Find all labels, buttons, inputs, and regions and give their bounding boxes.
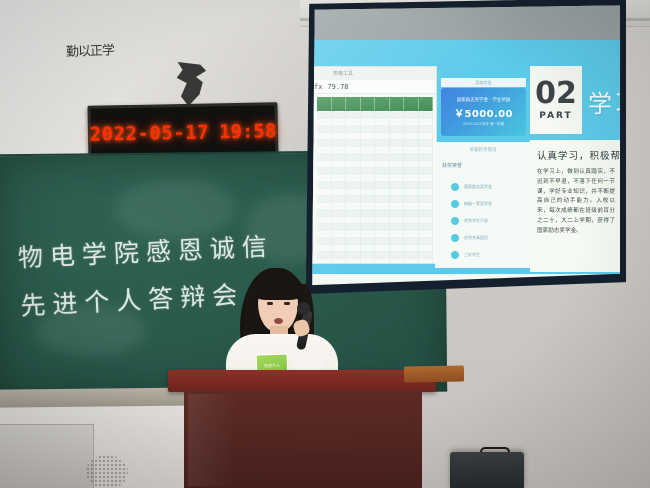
list-item-label: 优秀共青团员 xyxy=(464,235,488,241)
awards-panel-subtitle: 获奖荣誉 xyxy=(442,162,462,169)
mouth xyxy=(274,318,283,324)
table-row xyxy=(317,189,433,196)
led-date: 2022-05-17 xyxy=(90,122,210,146)
list-item: 国家励志奖学金 xyxy=(451,178,527,195)
slide-text-card: 认真学习，积极帮助同学 在学习上，做到认真踏实，不迟到不早退，不落下任何一节课，… xyxy=(530,140,620,272)
scholarship-card-header: 奖助学金 xyxy=(441,78,526,87)
table-row xyxy=(317,168,433,175)
list-item: 优秀共青团员 xyxy=(451,229,527,246)
speaker-grille-icon xyxy=(86,455,128,488)
list-item-label: 校级一等奖学金 xyxy=(464,201,492,207)
formula-fx-icon: fx xyxy=(314,83,322,91)
spreadsheet-screenshot: 表格工具 fx 79.78 xyxy=(310,66,437,264)
table-row xyxy=(317,154,433,161)
table-row xyxy=(317,217,433,224)
part-label: PART xyxy=(539,111,572,121)
bullet-dot-icon xyxy=(451,200,459,208)
slide-text-heading: 认真学习，积极帮助同学 xyxy=(537,148,615,162)
wall-calligraphy: 勤以正学 xyxy=(66,39,127,67)
projector-slide: 表格工具 fx 79.78 xyxy=(302,4,620,288)
bullet-dot-icon xyxy=(451,234,459,242)
led-time: 19:58 xyxy=(219,120,277,143)
list-item: 校级一等奖学金 xyxy=(451,195,527,212)
table-row xyxy=(317,112,433,119)
awards-panel: 荣誉获奖情况 获奖荣誉 国家励志奖学金 校级一等奖学金 优秀学生干部 优秀共青团 xyxy=(435,142,531,268)
table-row xyxy=(317,196,433,203)
table-row xyxy=(317,238,433,245)
table-row xyxy=(317,231,433,238)
table-row xyxy=(317,161,433,168)
scholarship-card: 国家励志奖学金 · 学业奖励 ￥5000.00 2020-2021学年 第一学期 xyxy=(441,88,526,136)
table-row xyxy=(317,133,433,140)
table-row xyxy=(317,175,433,182)
eye-left xyxy=(267,302,273,305)
scholarship-footnote: 2020-2021学年 第一学期 xyxy=(463,122,504,127)
podium xyxy=(178,370,428,488)
formula-bar: fx 79.78 xyxy=(311,80,437,94)
blackboard-line-2: 先进个人答辩会 xyxy=(19,275,245,323)
table-row xyxy=(317,126,433,133)
table-row xyxy=(317,140,433,147)
table-row xyxy=(317,259,433,264)
table-row xyxy=(317,224,433,231)
bullet-dot-icon xyxy=(451,183,459,191)
podium-side-board xyxy=(404,365,464,382)
awards-panel-title: 荣誉获奖情况 xyxy=(435,147,531,153)
classroom-photo: 勤以正学 2022-05-17 19:58 物电学院感恩诚信 先进个人答辩会 表… xyxy=(0,0,650,488)
table-row xyxy=(317,119,433,126)
podium-highlight xyxy=(188,394,238,486)
table-row xyxy=(317,245,433,252)
table-row xyxy=(317,203,433,210)
list-item: 三好学生 xyxy=(451,246,527,263)
table-row xyxy=(317,252,433,259)
table-row xyxy=(317,182,433,189)
wall-cabinet xyxy=(0,424,94,488)
part-number: 02 xyxy=(535,79,577,109)
table-row xyxy=(317,210,433,217)
part-number-box: 02 PART xyxy=(530,66,582,134)
list-item-label: 三好学生 xyxy=(464,252,480,258)
floor-speaker xyxy=(450,452,524,488)
bullet-dot-icon xyxy=(451,251,459,259)
spreadsheet-rows xyxy=(317,112,433,263)
slide-text-body: 在学习上，做到认真踏实，不迟到不早退，不落下任何一节课，学好专业知识，并不断提高… xyxy=(537,168,615,236)
slide-top-band xyxy=(302,4,620,40)
table-row xyxy=(317,147,433,154)
awards-list: 国家励志奖学金 校级一等奖学金 优秀学生干部 优秀共青团员 三好学生 xyxy=(451,178,527,263)
formula-value: 79.78 xyxy=(327,83,348,91)
scholarship-label: 国家励志奖学金 · 学业奖励 xyxy=(457,97,511,103)
podium-top-surface xyxy=(168,370,436,392)
ribbon-hint: 表格工具 xyxy=(333,70,353,77)
list-item-label: 国家励志奖学金 xyxy=(464,184,492,190)
spreadsheet-header-row xyxy=(317,97,433,111)
bullet-dot-icon xyxy=(451,217,459,225)
slide-section-title: 学习方面 xyxy=(588,84,620,119)
list-item: 优秀学生干部 xyxy=(451,212,527,229)
eye-right xyxy=(284,302,290,305)
scholarship-amount: ￥5000.00 xyxy=(454,105,513,120)
spreadsheet-ribbon: 表格工具 xyxy=(311,67,437,81)
list-item-label: 优秀学生干部 xyxy=(464,218,488,224)
